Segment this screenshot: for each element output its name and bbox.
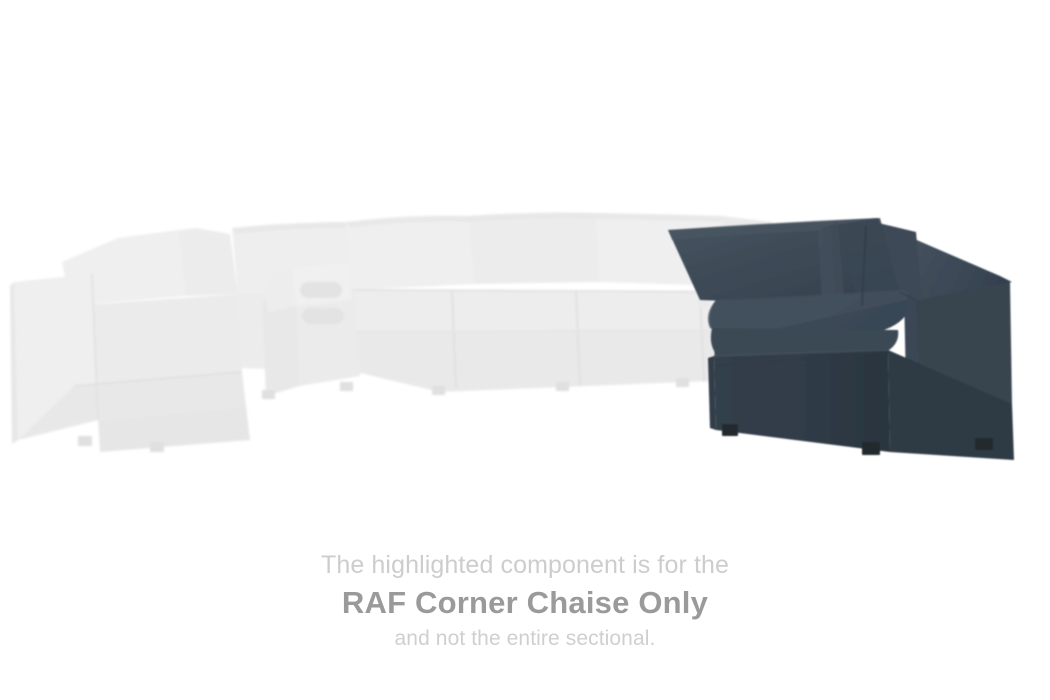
screenshot-root: The highlighted component is for the RAF… xyxy=(0,0,1050,700)
caption-line-1: The highlighted component is for the xyxy=(0,548,1050,582)
chaise-leg-front-right xyxy=(862,442,880,455)
chaise-base-front xyxy=(714,350,890,452)
chaise-leg-front-left xyxy=(722,424,738,436)
caption-line-2-component-name: RAF Corner Chaise Only xyxy=(0,582,1050,624)
caption-block: The highlighted component is for the RAF… xyxy=(0,548,1050,654)
product-illustration xyxy=(0,0,1050,520)
raf-corner-chaise-highlight xyxy=(668,218,1014,460)
caption-line-3: and not the entire sectional. xyxy=(0,624,1050,654)
chaise-leg-back-right xyxy=(975,438,993,450)
ghosted-sectional xyxy=(10,212,782,452)
ghost-laf-loveseat xyxy=(10,228,250,452)
